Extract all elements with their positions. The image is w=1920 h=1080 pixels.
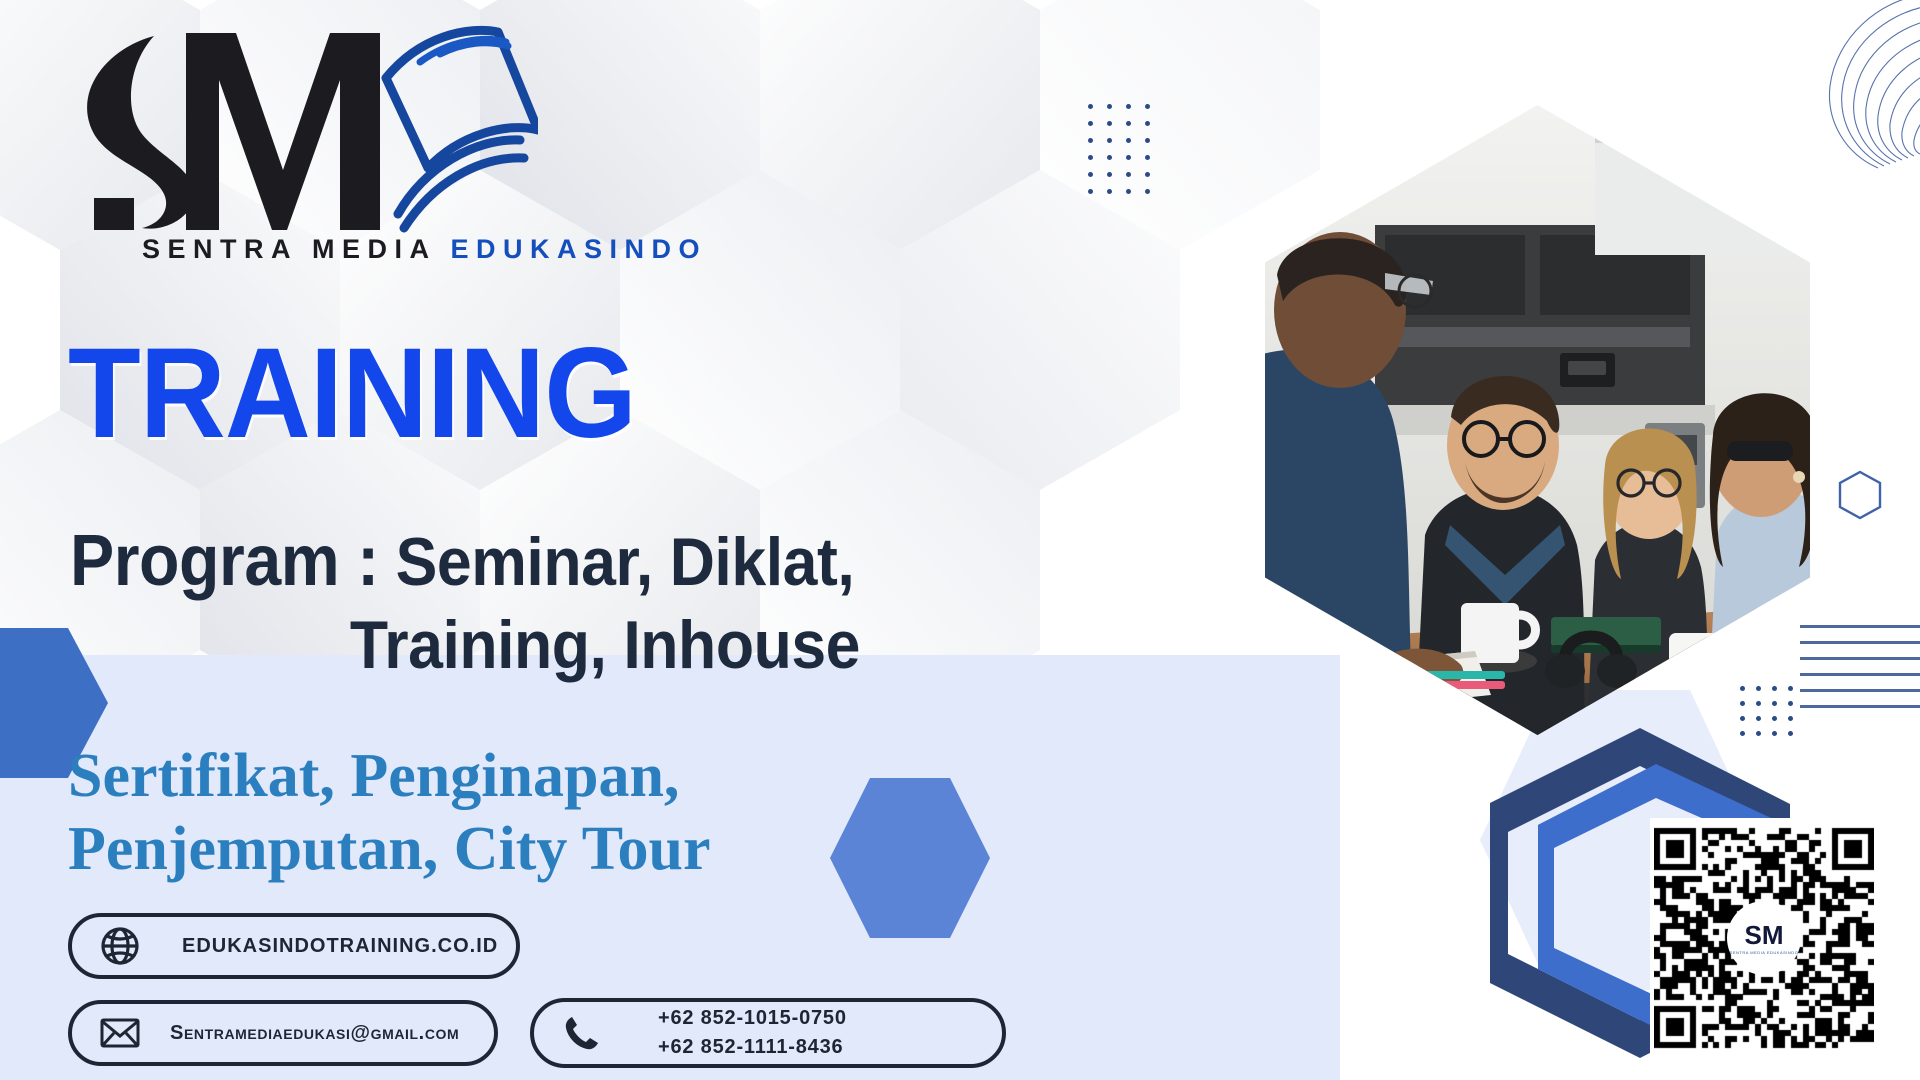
qr-center-sub: SENTRA MEDIA EDUKASINDO xyxy=(1730,950,1799,955)
contact-email-pill[interactable]: Sentramediaedukasi@gmail.com xyxy=(68,1000,498,1066)
deco-dot xyxy=(1772,701,1777,706)
globe-icon xyxy=(98,924,142,968)
brand-name-blue: EDUKASINDO xyxy=(451,234,708,264)
deco-line xyxy=(1800,625,1920,628)
deco-dot xyxy=(1788,716,1793,721)
deco-dot xyxy=(1756,686,1761,691)
deco-dot xyxy=(1145,189,1150,194)
logo-mark-sm xyxy=(68,18,538,243)
deco-dot xyxy=(1107,138,1112,143)
deco-dot xyxy=(1088,104,1093,109)
deco-line xyxy=(1800,705,1920,708)
deco-dot xyxy=(1126,121,1131,126)
deco-dot xyxy=(1107,172,1112,177)
qr-code[interactable]: SM SENTRA MEDIA EDUKASINDO xyxy=(1650,818,1878,1058)
deco-dot xyxy=(1756,716,1761,721)
program-line-2: Training, Inhouse xyxy=(133,611,860,679)
deco-dot xyxy=(1756,701,1761,706)
deco-dot xyxy=(1088,138,1093,143)
deco-dot xyxy=(1772,686,1777,691)
deco-line xyxy=(1800,673,1920,676)
deco-dot xyxy=(1107,155,1112,160)
qr-center-mark: SM xyxy=(1745,922,1784,948)
deco-dot xyxy=(1788,701,1793,706)
hexagon-outline-icon xyxy=(1838,470,1882,520)
deco-dot xyxy=(1088,155,1093,160)
email-value: Sentramediaedukasi@gmail.com xyxy=(160,1022,459,1045)
deco-dot xyxy=(1088,172,1093,177)
website-value: EDUKASINDOTRAINING.CO.ID xyxy=(160,935,498,958)
deco-dot xyxy=(1107,189,1112,194)
deco-dot xyxy=(1107,121,1112,126)
phone-value-1: +62 852-1015-0750 xyxy=(658,1007,847,1029)
deco-dot xyxy=(1126,155,1131,160)
brand-logo: SENTRA MEDIA EDUKASINDO xyxy=(68,18,568,293)
deco-dot xyxy=(1126,104,1131,109)
phone-values: +62 852-1015-0750 +62 852-1111-8436 xyxy=(622,1004,847,1062)
deco-dot xyxy=(1740,686,1745,691)
brand-name-dark: SENTRA MEDIA xyxy=(142,234,436,264)
deco-dot xyxy=(1126,189,1131,194)
swirl-decoration xyxy=(1750,0,1920,180)
services-line-2: Penjemputan, City Tour xyxy=(68,813,710,886)
deco-dot xyxy=(1145,155,1150,160)
contact-website-pill[interactable]: EDUKASINDOTRAINING.CO.ID xyxy=(68,913,520,979)
band-diagonal-edge xyxy=(1085,655,1335,1080)
deco-dot xyxy=(1145,138,1150,143)
deco-dot xyxy=(1740,716,1745,721)
poster-canvas: SENTRA MEDIA EDUKASINDO TRAINING Program… xyxy=(0,0,1920,1080)
deco-dot xyxy=(1145,104,1150,109)
deco-dot xyxy=(1788,686,1793,691)
program-line-1: Program : Seminar, Diklat, xyxy=(70,525,797,597)
deco-dot xyxy=(1772,716,1777,721)
deco-dot xyxy=(1145,121,1150,126)
deco-dot xyxy=(1088,121,1093,126)
team-meeting-photo xyxy=(1265,105,1810,735)
program-label: Program : xyxy=(70,521,379,601)
program-block: Program : Seminar, Diklat, Training, Inh… xyxy=(70,525,860,679)
qr-center-logo: SM SENTRA MEDIA EDUKASINDO xyxy=(1727,901,1801,975)
deco-dot xyxy=(1088,189,1093,194)
services-block: Sertifikat, Penginapan, Penjemputan, Cit… xyxy=(68,740,710,886)
brand-name: SENTRA MEDIA EDUKASINDO xyxy=(142,234,707,265)
deco-line xyxy=(1800,657,1920,660)
page-title: TRAINING xyxy=(68,330,636,458)
envelope-icon xyxy=(98,1011,142,1055)
deco-dot xyxy=(1145,172,1150,177)
deco-dot xyxy=(1126,172,1131,177)
deco-line xyxy=(1800,689,1920,692)
program-value-1: Seminar, Diklat, xyxy=(396,524,855,600)
services-line-1: Sertifikat, Penginapan, xyxy=(68,740,710,813)
deco-dot xyxy=(1126,138,1131,143)
deco-line xyxy=(1800,641,1920,644)
deco-dot xyxy=(1107,104,1112,109)
phone-value-2: +62 852-1111-8436 xyxy=(658,1036,843,1058)
phone-icon xyxy=(560,1011,604,1055)
deco-dot xyxy=(1740,701,1745,706)
contact-phone-pill[interactable]: +62 852-1015-0750 +62 852-1111-8436 xyxy=(530,998,1006,1068)
line-stack-decoration xyxy=(1800,625,1920,721)
